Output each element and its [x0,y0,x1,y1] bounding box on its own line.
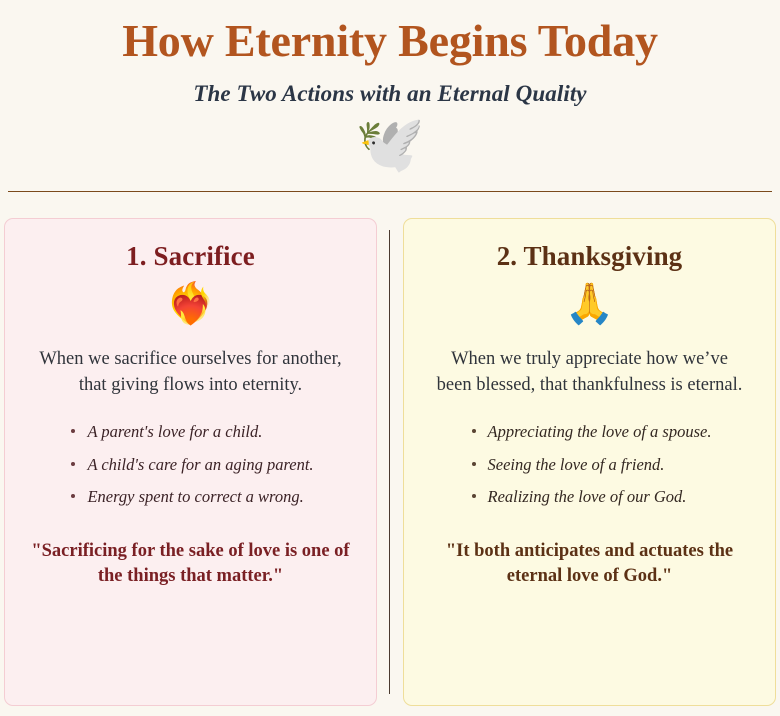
list-item: Realizing the love of our God. [468,486,712,519]
header: How Eternity Begins Today The Two Action… [0,0,780,192]
card-thanksgiving-heading: 2. Thanksgiving [497,241,683,272]
cards-container: 1. Sacrifice ❤️‍🔥 When we sacrifice ours… [0,192,780,716]
card-sacrifice-body: When we sacrifice ourselves for another,… [28,330,354,399]
vertical-divider [389,230,390,694]
infographic-page: How Eternity Begins Today The Two Action… [0,0,780,716]
card-thanksgiving-bullet-list: Appreciating the love of a spouse. Seein… [468,399,712,519]
emblem-wrap: 🕊️ [0,107,780,175]
card-thanksgiving: 2. Thanksgiving 🙏 When we truly apprecia… [403,218,776,706]
page-subtitle: The Two Actions with an Eternal Quality [0,69,780,107]
list-item: Seeing the love of a friend. [468,454,712,487]
card-sacrifice-heading: 1. Sacrifice [126,241,255,272]
card-thanksgiving-quote: "It both anticipates and actuates the et… [424,519,756,588]
list-item: A child's care for an aging parent. [67,454,313,487]
card-sacrifice: 1. Sacrifice ❤️‍🔥 When we sacrifice ours… [4,218,377,706]
card-thanksgiving-body: When we truly appreciate how we’ve been … [427,330,753,399]
list-item: Appreciating the love of a spouse. [468,421,712,454]
folded-hands-icon: 🙏 [565,272,615,330]
list-item: A parent's love for a child. [67,421,313,454]
card-sacrifice-bullet-list: A parent's love for a child. A child's c… [67,399,313,519]
dove-icon: 🕊️ [355,117,425,173]
list-item: Energy spent to correct a wrong. [67,486,313,519]
card-sacrifice-quote: "Sacrificing for the sake of love is one… [25,519,357,588]
page-title: How Eternity Begins Today [0,10,780,69]
heart-on-fire-icon: ❤️‍🔥 [166,272,216,330]
